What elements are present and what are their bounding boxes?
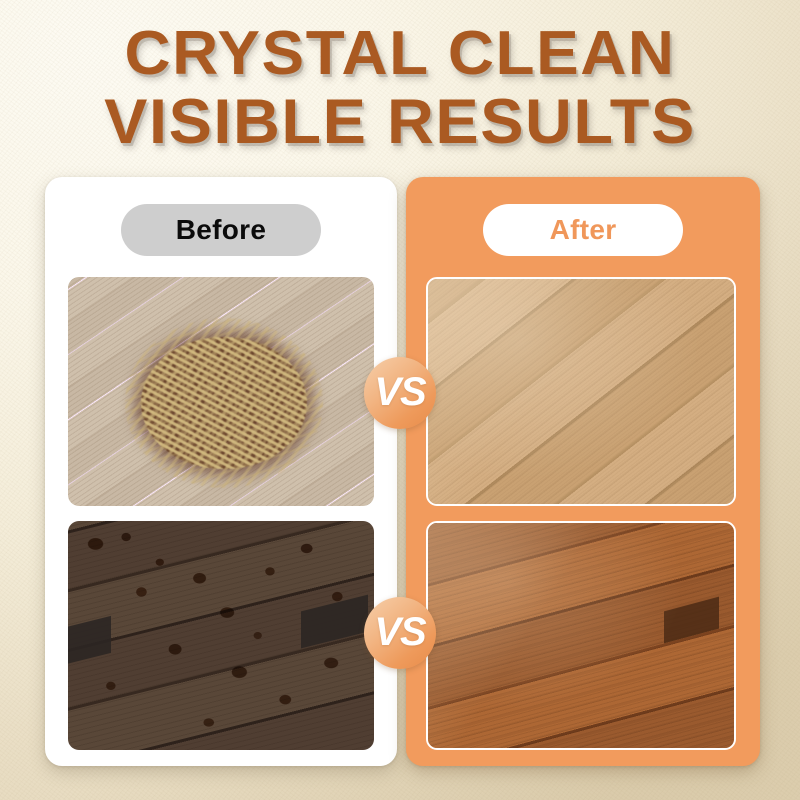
polished-brown-wood-image bbox=[428, 523, 734, 748]
dark-plank-accent bbox=[664, 597, 719, 643]
before-badge-label: Before bbox=[176, 214, 267, 246]
before-photo-2 bbox=[68, 521, 374, 750]
after-panel: After bbox=[406, 177, 760, 766]
after-badge-label: After bbox=[550, 214, 617, 246]
spaghetti-spill-image bbox=[68, 277, 374, 506]
stained-floor-image bbox=[68, 521, 374, 750]
page-title: CRYSTAL CLEAN VISIBLE RESULTS bbox=[0, 24, 800, 153]
before-badge: Before bbox=[121, 204, 321, 256]
promo-poster: CRYSTAL CLEAN VISIBLE RESULTS Before Aft… bbox=[0, 0, 800, 800]
after-photo-2 bbox=[426, 521, 736, 750]
headline-line-1: CRYSTAL CLEAN bbox=[0, 24, 800, 85]
after-photo-1 bbox=[426, 277, 736, 506]
vs-badge-bottom: VS bbox=[364, 597, 436, 669]
dark-plank-accent bbox=[68, 616, 111, 665]
noodle-pile bbox=[141, 337, 306, 470]
before-panel: Before bbox=[45, 177, 397, 766]
dark-plank-accent bbox=[301, 595, 368, 648]
vs-badge-label: VS bbox=[374, 372, 425, 412]
after-badge: After bbox=[483, 204, 683, 256]
clean-light-wood-image bbox=[428, 279, 734, 504]
vs-badge-label: VS bbox=[374, 612, 425, 652]
headline-line-2: VISIBLE RESULTS bbox=[0, 92, 800, 154]
vs-badge-top: VS bbox=[364, 357, 436, 429]
before-photo-1 bbox=[68, 277, 374, 506]
